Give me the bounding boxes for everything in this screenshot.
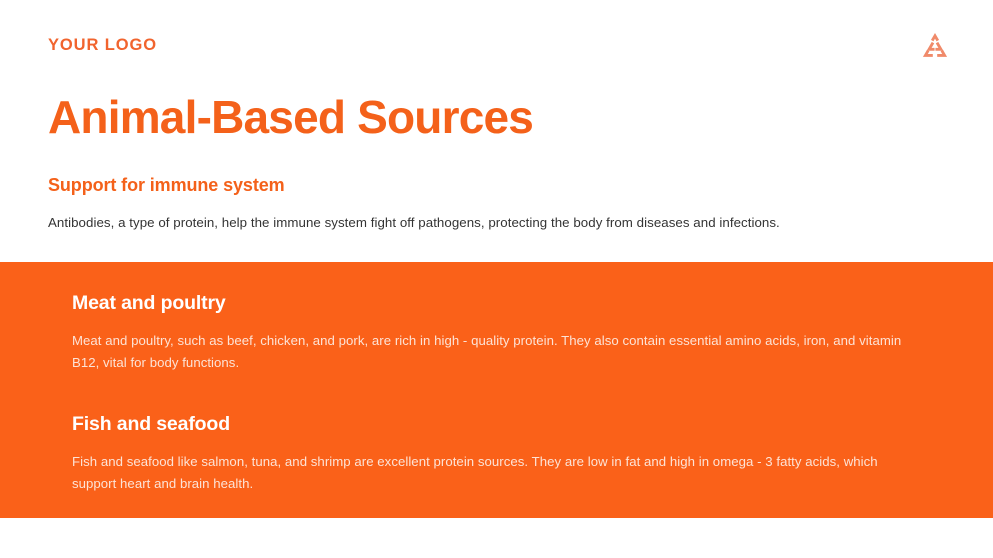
card-title: Meat and poultry (72, 292, 921, 315)
section-body-text: Antibodies, a type of protein, help the … (48, 213, 945, 233)
page-title: Animal-Based Sources (48, 90, 945, 144)
intro-section: Animal-Based Sources Support for immune … (0, 90, 993, 233)
section-subtitle: Support for immune system (48, 175, 945, 197)
slide-root: YOUR LOGO Animal-Based Sources Support f… (0, 0, 993, 558)
content-card: Fish and seafood Fish and seafood like s… (72, 413, 921, 495)
logo-text: YOUR LOGO (48, 37, 157, 54)
slide-header: YOUR LOGO (0, 0, 993, 90)
card-body-text: Fish and seafood like salmon, tuna, and … (72, 451, 921, 495)
highlight-band: Meat and poultry Meat and poultry, such … (0, 262, 993, 518)
card-body-text: Meat and poultry, such as beef, chicken,… (72, 330, 921, 374)
card-title: Fish and seafood (72, 413, 921, 436)
recycle-icon (921, 31, 949, 59)
content-card: Meat and poultry Meat and poultry, such … (72, 292, 921, 374)
